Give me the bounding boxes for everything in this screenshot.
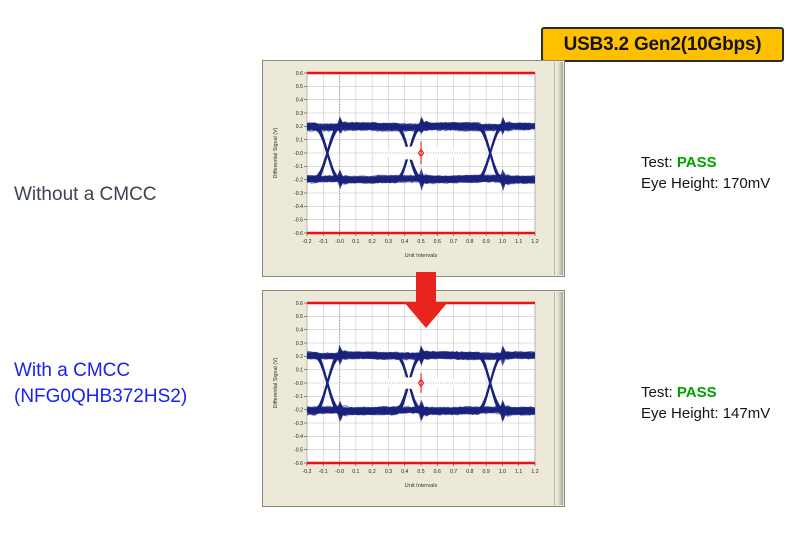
svg-text:0.5: 0.5 (296, 84, 303, 90)
x-axis-title-with-cmcc: Unit Intervals (405, 483, 438, 489)
svg-text:0.6: 0.6 (434, 469, 441, 475)
svg-text:0.4: 0.4 (296, 98, 303, 104)
test-result-line-with-cmcc: Test: PASS (641, 382, 770, 403)
svg-text:-0.1: -0.1 (294, 394, 303, 400)
eye-height-value-without-cmcc: 170mV (723, 175, 771, 192)
svg-text:-0.4: -0.4 (294, 434, 303, 440)
status-badge-without-cmcc: PASS (677, 154, 717, 171)
svg-text:-0.0: -0.0 (335, 239, 344, 245)
svg-text:0.8: 0.8 (466, 239, 473, 245)
svg-text:-0.2: -0.2 (303, 239, 312, 245)
result-block-without-cmcc: Test: PASS Eye Height: 170mV (641, 152, 770, 194)
eye-height-label-with-cmcc: Eye Height: (641, 405, 719, 422)
y-axis-title-without-cmcc: Differential Signal (V) (273, 127, 279, 178)
row-label-with-cmcc-text: With a CMCC (14, 360, 130, 381)
eye-diagram-svg-without-cmcc: 0.60.50.40.30.20.1-0.0-0.1-0.2-0.3-0.4-0… (263, 61, 564, 276)
svg-text:1.1: 1.1 (515, 469, 522, 475)
svg-text:0.6: 0.6 (434, 239, 441, 245)
row-label-without-cmcc: Without a CMCC (14, 182, 157, 208)
title-badge: USB3.2 Gen2(10Gbps) (541, 27, 784, 62)
eye-height-label-without-cmcc: Eye Height: (641, 175, 719, 192)
scope-scrollbar-with-cmcc[interactable] (554, 292, 563, 505)
svg-text:0.7: 0.7 (450, 469, 457, 475)
svg-text:-0.1: -0.1 (319, 239, 328, 245)
svg-text:-0.4: -0.4 (294, 204, 303, 210)
svg-text:0.7: 0.7 (450, 239, 457, 245)
svg-text:0.6: 0.6 (296, 301, 303, 307)
eye-height-line-with-cmcc: Eye Height: 147mV (641, 403, 770, 424)
svg-text:1.0: 1.0 (499, 239, 506, 245)
svg-text:-0.5: -0.5 (294, 448, 303, 454)
svg-text:-0.6: -0.6 (294, 231, 303, 237)
eye-height-value-with-cmcc: 147mV (723, 405, 771, 422)
svg-text:0.2: 0.2 (296, 124, 303, 130)
svg-text:0.3: 0.3 (296, 111, 303, 117)
svg-text:0.4: 0.4 (296, 328, 303, 334)
eye-height-line-without-cmcc: Eye Height: 170mV (641, 173, 770, 194)
title-badge-label: USB3.2 Gen2(10Gbps) (564, 34, 762, 56)
svg-text:0.6: 0.6 (296, 71, 303, 77)
down-arrow-icon (398, 272, 454, 328)
svg-text:-0.0: -0.0 (294, 381, 303, 387)
svg-text:0.2: 0.2 (369, 469, 376, 475)
svg-text:-0.1: -0.1 (294, 164, 303, 170)
svg-text:0.4: 0.4 (401, 469, 408, 475)
svg-text:0.4: 0.4 (401, 239, 408, 245)
svg-text:-0.2: -0.2 (294, 178, 303, 184)
scope-scrollbar-without-cmcc[interactable] (554, 62, 563, 275)
result-block-with-cmcc: Test: PASS Eye Height: 147mV (641, 382, 770, 424)
svg-text:0.1: 0.1 (296, 368, 303, 374)
svg-text:-0.1: -0.1 (319, 469, 328, 475)
svg-text:-0.2: -0.2 (303, 469, 312, 475)
svg-text:0.1: 0.1 (352, 469, 359, 475)
svg-text:0.3: 0.3 (296, 341, 303, 347)
svg-text:1.2: 1.2 (531, 239, 538, 245)
eye-diagram-panel-without-cmcc: 0.60.50.40.30.20.1-0.0-0.1-0.2-0.3-0.4-0… (262, 60, 565, 277)
svg-text:-0.0: -0.0 (294, 151, 303, 157)
svg-text:-0.0: -0.0 (335, 469, 344, 475)
svg-text:0.1: 0.1 (352, 239, 359, 245)
svg-text:1.0: 1.0 (499, 469, 506, 475)
row-label-with-cmcc: With a CMCC (NFG0QHB372HS2) (14, 358, 187, 410)
status-badge-with-cmcc: PASS (677, 384, 717, 401)
svg-text:1.2: 1.2 (531, 469, 538, 475)
svg-text:0.5: 0.5 (417, 469, 424, 475)
svg-text:0.2: 0.2 (369, 239, 376, 245)
svg-text:-0.5: -0.5 (294, 218, 303, 224)
svg-text:0.2: 0.2 (296, 354, 303, 360)
svg-text:0.3: 0.3 (385, 239, 392, 245)
svg-text:1.1: 1.1 (515, 239, 522, 245)
svg-text:0.5: 0.5 (417, 239, 424, 245)
test-result-line-without-cmcc: Test: PASS (641, 152, 770, 173)
svg-text:0.9: 0.9 (483, 469, 490, 475)
svg-text:0.1: 0.1 (296, 138, 303, 144)
test-label-with-cmcc: Test: (641, 384, 673, 401)
svg-text:-0.2: -0.2 (294, 408, 303, 414)
row-label-without-cmcc-text: Without a CMCC (14, 184, 157, 205)
svg-text:0.3: 0.3 (385, 469, 392, 475)
svg-text:0.5: 0.5 (296, 314, 303, 320)
row-label-with-cmcc-partnumber: (NFG0QHB372HS2) (14, 384, 187, 410)
test-label-without-cmcc: Test: (641, 154, 673, 171)
svg-text:0.8: 0.8 (466, 469, 473, 475)
svg-text:-0.6: -0.6 (294, 461, 303, 467)
svg-text:0.9: 0.9 (483, 239, 490, 245)
y-axis-title-with-cmcc: Differential Signal (V) (273, 357, 279, 408)
svg-text:-0.3: -0.3 (294, 421, 303, 427)
x-axis-title-without-cmcc: Unit Intervals (405, 253, 438, 259)
svg-text:-0.3: -0.3 (294, 191, 303, 197)
